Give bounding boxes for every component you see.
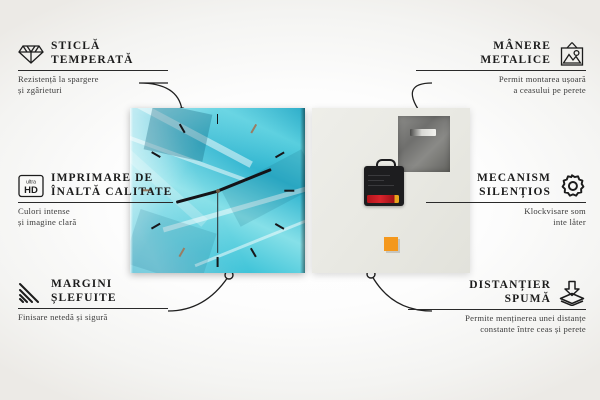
divider: [18, 308, 168, 309]
divider: [18, 202, 173, 203]
gear-icon: [558, 173, 586, 199]
hand-cap: [216, 189, 220, 193]
polished-edges-icon: [18, 281, 44, 303]
diamond-icon: [18, 43, 44, 65]
feature-edges: MARGINI ȘLEFUITE Finisare netedă și sigu…: [18, 278, 168, 323]
feature-handles-title-1: MÂNERE: [480, 40, 551, 54]
feature-spacer-title-1: DISTANȚIER: [469, 279, 551, 293]
feature-glass: STICLĂ TEMPERATĂ Rezistență la spargere …: [18, 40, 168, 95]
feature-print-title-2: ÎNALTĂ CALITATE: [51, 186, 172, 200]
divider: [18, 70, 168, 71]
feature-handles: MÂNERE METALICE Permit montarea ușoară a…: [416, 40, 586, 95]
feature-glass-sub-1: Rezistență la spargere: [18, 74, 168, 85]
press-down-layers-icon: [558, 280, 586, 306]
feature-spacer-sub-2: constante între ceas și perete: [408, 324, 586, 335]
feature-spacer-title-2: SPUMĂ: [469, 293, 551, 307]
feature-print-sub-1: Culori intense: [18, 206, 173, 217]
second-hand: [217, 191, 218, 253]
feature-print-sub-2: și imagine clară: [18, 217, 173, 228]
feature-edges-sub-1: Finisare netedă și sigură: [18, 312, 168, 323]
feature-handles-title-2: METALICE: [480, 54, 551, 68]
feature-print: ultra HD IMPRIMARE DE ÎNALTĂ CALITATE Cu…: [18, 172, 173, 227]
feature-mechanism-title-2: SILENȚIOS: [477, 186, 551, 200]
feature-mechanism-title-1: MECANISM: [477, 172, 551, 186]
feature-handles-sub-1: Permit montarea ușoară: [416, 74, 586, 85]
feature-edges-title-1: MARGINI: [51, 278, 117, 292]
feature-spacer: DISTANȚIER SPUMĂ Permite menținerea unei…: [408, 279, 586, 334]
divider: [416, 70, 586, 71]
feature-glass-title-1: STICLĂ: [51, 40, 134, 54]
feature-edges-title-2: ȘLEFUITE: [51, 292, 117, 306]
divider: [408, 309, 586, 310]
ultra-hd-icon: ultra HD: [18, 174, 44, 198]
divider: [426, 202, 586, 203]
feature-spacer-sub-1: Permite menținerea unei distanțe: [408, 313, 586, 324]
clock-mechanism: [364, 166, 404, 206]
infographic-canvas: STICLĂ TEMPERATĂ Rezistență la spargere …: [0, 0, 600, 400]
feature-glass-title-2: TEMPERATĂ: [51, 54, 134, 68]
foam-spacer-pad: [384, 237, 398, 251]
feature-print-title-1: IMPRIMARE DE: [51, 172, 172, 186]
mechanism-hook: [376, 159, 396, 170]
feature-handles-sub-2: a ceasului pe perete: [416, 85, 586, 96]
feature-mechanism-sub-1: Klockvisare som: [426, 206, 586, 217]
product-images: [130, 108, 470, 273]
svg-text:HD: HD: [24, 185, 38, 196]
hanger-slot: [410, 129, 436, 136]
picture-hanger-icon: [558, 41, 586, 67]
feature-mechanism-sub-2: inte låter: [426, 217, 586, 228]
battery: [367, 195, 399, 203]
connector-edges: [168, 277, 228, 311]
metal-hanger-plate: [398, 116, 450, 172]
feature-glass-sub-2: și zgârieturi: [18, 85, 168, 96]
feature-mechanism: MECANISM SILENȚIOS Klockvisare som inte …: [426, 172, 586, 227]
